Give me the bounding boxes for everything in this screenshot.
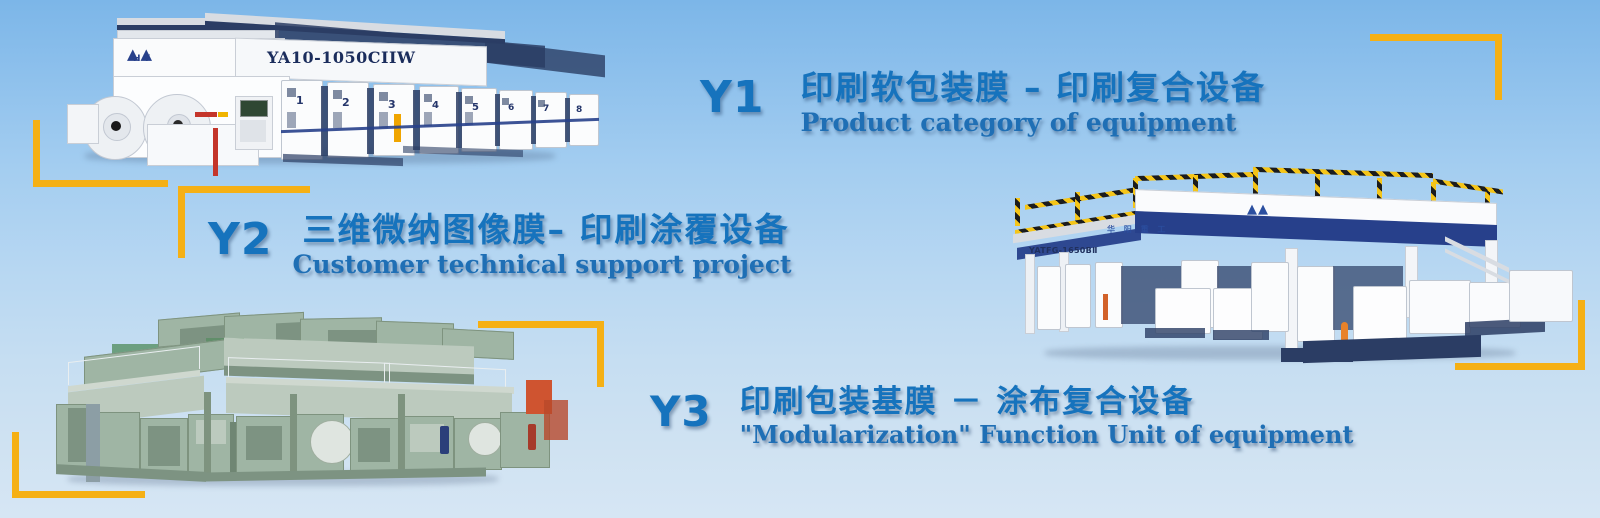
bracket-top-left-vertical: [33, 120, 40, 186]
entry-y3-english: "Modularization" Function Unit of equipm…: [740, 422, 1354, 448]
bracket-y2-horizontal: [178, 186, 310, 193]
bracket-bottom-left-vertical: [12, 432, 19, 498]
unit-number-4: 4: [432, 100, 439, 111]
unit-number-1: 1: [296, 94, 304, 107]
machine-base-film-coating-line: [28, 308, 573, 490]
bracket-y3-vertical: [597, 321, 604, 387]
unit-number-8: 8: [576, 105, 582, 115]
entry-y1: Y1 印刷软包装膜 – 印刷复合设备 Product category of e…: [700, 70, 1266, 136]
entry-y1-code: Y1: [700, 76, 764, 120]
entry-y1-english: Product category of equipment: [800, 109, 1265, 137]
worker-figure: [440, 426, 449, 454]
entry-y2: Y2 三维微纳图像膜– 印刷涂覆设备 Customer technical su…: [208, 212, 792, 278]
entry-y3: Y3 印刷包装基膜 － 涂布复合设备 "Modularization" Func…: [650, 385, 1353, 448]
bracket-top-left-horizontal: [33, 180, 168, 187]
unit-number-5: 5: [472, 102, 479, 113]
promo-banner: ▲▲ HY YA10-1050CIIW: [0, 0, 1600, 518]
bracket-top-right-horizontal: [1370, 34, 1502, 41]
entry-y3-chinese: 印刷包装基膜 － 涂布复合设备: [740, 385, 1354, 420]
machine2-chinese-mark: 华 阳 重 工: [1107, 224, 1168, 235]
entry-y1-chinese: 印刷软包装膜 – 印刷复合设备: [800, 70, 1265, 107]
entry-y2-code: Y2: [208, 218, 272, 262]
machine-model-label: YA10-1050CIIW: [267, 48, 415, 67]
unit-number-3: 3: [388, 98, 396, 111]
machine-brand-logo-text: HY: [133, 54, 153, 64]
entry-y2-chinese: 三维微纳图像膜– 印刷涂覆设备: [302, 212, 791, 249]
unit-number-2: 2: [342, 96, 350, 109]
bracket-top-right-vertical: [1495, 34, 1502, 100]
bracket-y2-vertical: [178, 186, 185, 258]
bracket-bottom-left-horizontal: [12, 491, 145, 498]
entry-y2-english: Customer technical support project: [292, 251, 791, 279]
machine-rotogravure-printing-press: ▲▲ HY YA10-1050CIIW: [55, 8, 595, 176]
machine2-brand-logo: ▲▲: [1247, 202, 1269, 217]
machine-coating-laminating: ▲▲ 华 阳 重 工 YATFG-1650BⅡ: [985, 170, 1590, 370]
entry-y3-code: Y3: [650, 391, 712, 433]
worker-figure: [528, 424, 536, 450]
